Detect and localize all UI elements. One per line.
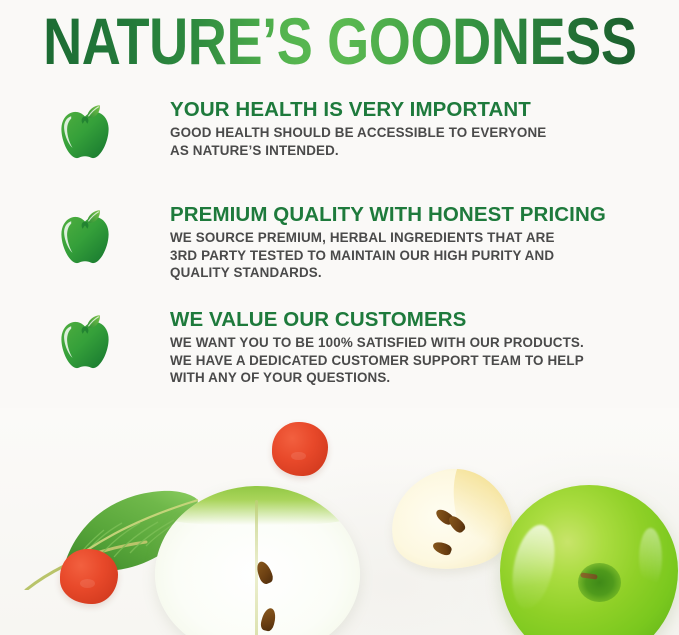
apple-seed: [259, 607, 277, 632]
apple-icon: [58, 205, 112, 267]
nature-goodness-banner: NATURE’S GOODNESS: [0, 0, 679, 635]
feature-item: PREMIUM QUALITY WITH HONEST PRICING WE S…: [0, 203, 679, 282]
gummy-apple-red-left: [60, 549, 118, 604]
apple-icon: [58, 100, 112, 162]
halved-green-apple: [155, 486, 360, 635]
feature-body-line: WE HAVE A DEDICATED CUSTOMER SUPPORT TEA…: [170, 352, 661, 370]
feature-item: YOUR HEALTH IS VERY IMPORTANT GOOD HEALT…: [0, 98, 679, 162]
feature-text-cell: YOUR HEALTH IS VERY IMPORTANT GOOD HEALT…: [170, 98, 679, 159]
feature-body-line: WITH ANY OF YOUR QUESTIONS.: [170, 369, 661, 387]
feature-text-cell: WE VALUE OUR CUSTOMERS WE WANT YOU TO BE…: [170, 308, 679, 387]
banner-title-area: NATURE’S GOODNESS: [0, 0, 679, 82]
feature-heading: WE VALUE OUR CUSTOMERS: [170, 308, 661, 331]
feature-body-line: AS NATURE’S INTENDED.: [170, 142, 661, 160]
feature-body-line: WE WANT YOU TO BE 100% SATISFIED WITH OU…: [170, 334, 661, 352]
feature-icon-cell: [0, 203, 170, 267]
feature-body-line: 3RD PARTY TESTED TO MAINTAIN OUR HIGH PU…: [170, 247, 661, 265]
feature-body-line: WE SOURCE PREMIUM, HERBAL INGREDIENTS TH…: [170, 229, 661, 247]
apple-highlight: [506, 521, 562, 613]
feature-item: WE VALUE OUR CUSTOMERS WE WANT YOU TO BE…: [0, 308, 679, 387]
feature-body: WE WANT YOU TO BE 100% SATISFIED WITH OU…: [170, 334, 661, 387]
gummy-apple-red-top: [272, 422, 328, 476]
feature-heading: YOUR HEALTH IS VERY IMPORTANT: [170, 98, 661, 121]
feature-icon-cell: [0, 98, 170, 162]
product-photo: [0, 408, 679, 635]
feature-heading: PREMIUM QUALITY WITH HONEST PRICING: [170, 203, 661, 226]
apple-stem-well: [578, 563, 621, 602]
page-title: NATURE’S GOODNESS: [43, 8, 636, 74]
feature-body-line: GOOD HEALTH SHOULD BE ACCESSIBLE TO EVER…: [170, 124, 661, 142]
feature-body: WE SOURCE PREMIUM, HERBAL INGREDIENTS TH…: [170, 229, 661, 282]
feature-body: GOOD HEALTH SHOULD BE ACCESSIBLE TO EVER…: [170, 124, 661, 159]
apple-icon: [58, 310, 112, 372]
apple-seed: [431, 540, 453, 557]
apple-highlight-secondary: [639, 528, 662, 589]
feature-text-cell: PREMIUM QUALITY WITH HONEST PRICING WE S…: [170, 203, 679, 282]
feature-icon-cell: [0, 308, 170, 372]
feature-body-line: QUALITY STANDARDS.: [170, 264, 661, 282]
